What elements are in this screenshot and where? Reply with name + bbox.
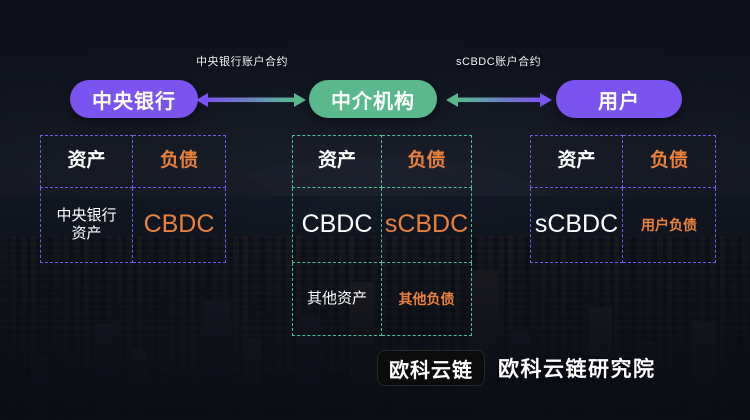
table-header-row: 资产 负债 — [292, 135, 472, 188]
header-liability: 负债 — [623, 135, 716, 188]
header-asset: 资产 — [292, 135, 382, 188]
header-liability: 负债 — [133, 135, 226, 188]
contract-label-central-bank: 中央银行账户合约 — [196, 53, 288, 69]
node-central-bank[interactable]: 中央银行 — [70, 80, 198, 118]
central-bank-balance-sheet: 资产 负债 中央银行资产 CBDC — [40, 135, 226, 263]
cell-user-liability: 用户负债 — [623, 188, 716, 263]
table-row: CBDC sCBDC — [292, 188, 472, 263]
cell-cbdc-asset: CBDC — [292, 188, 382, 263]
brand-name-label: 欧科云链研究院 — [498, 353, 656, 383]
cell-central-bank-asset: 中央银行资产 — [40, 188, 133, 263]
table-header-row: 资产 负债 — [40, 135, 226, 188]
table-row: 中央银行资产 CBDC — [40, 188, 226, 263]
infographic-canvas: 中央银行账户合约 sCBDC账户合约 中央银行 中介机构 用户 资产 — [0, 0, 750, 420]
cell-scbdc-asset: sCBDC — [530, 188, 623, 263]
table-row: 其他资产 其他负债 — [292, 263, 472, 336]
cell-other-assets: 其他资产 — [292, 263, 382, 336]
header-liability: 负债 — [382, 135, 472, 188]
table-header-row: 资产 负债 — [530, 135, 716, 188]
node-intermediary[interactable]: 中介机构 — [309, 80, 437, 118]
arrow-intermediary-user-icon — [446, 89, 552, 111]
brand-logo-badge: 欧科云链 — [378, 351, 484, 385]
table-row: sCBDC 用户负债 — [530, 188, 716, 263]
arrow-central-bank-intermediary-icon — [196, 89, 306, 111]
contract-label-scbdc: sCBDC账户合约 — [456, 53, 541, 69]
cell-scbdc-liability: sCBDC — [382, 188, 472, 263]
intermediary-balance-sheet: 资产 负债 CBDC sCBDC 其他资产 其他负债 — [292, 135, 472, 336]
header-asset: 资产 — [40, 135, 133, 188]
node-user[interactable]: 用户 — [556, 80, 682, 118]
cell-text: 中央银行资产 — [56, 207, 116, 242]
cell-cbdc-liability: CBDC — [133, 188, 226, 263]
user-balance-sheet: 资产 负债 sCBDC 用户负债 — [530, 135, 716, 263]
header-asset: 资产 — [530, 135, 623, 188]
brand-footer: 欧科云链 欧科云链研究院 — [378, 349, 656, 387]
cell-other-liabilities: 其他负债 — [382, 263, 472, 336]
